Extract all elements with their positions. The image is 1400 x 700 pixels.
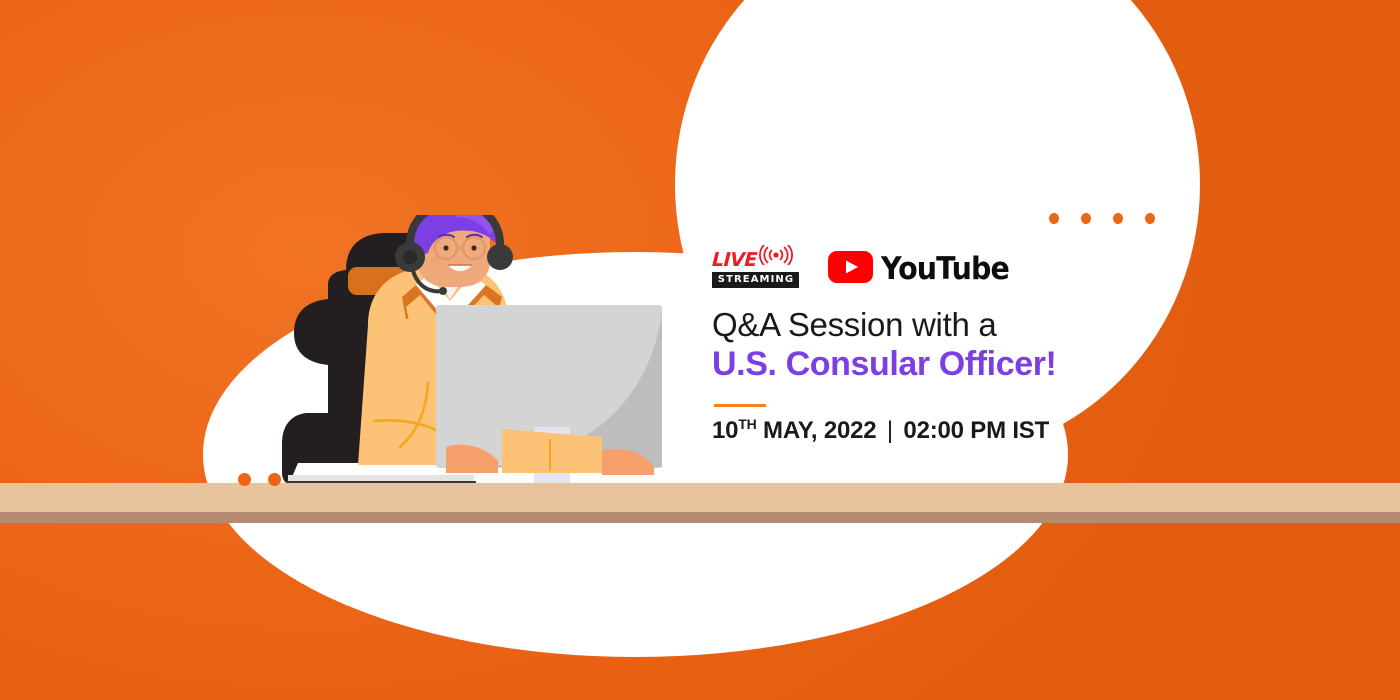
decor-dot-2 xyxy=(1081,213,1091,224)
schedule-day: 10 xyxy=(712,417,738,444)
decor-dots-row xyxy=(1049,213,1155,224)
schedule-line: 10TH MAY, 2022 | 02:00 PM IST xyxy=(712,416,1132,446)
decor-dot-1 xyxy=(1049,213,1059,224)
webinar-promo-banner: LIVE STREAMING xyxy=(0,0,1400,700)
youtube-play-icon xyxy=(828,251,873,288)
live-streaming-badge: LIVE STREAMING xyxy=(712,250,800,288)
headline-block: Q&A Session with a U.S. Consular Officer… xyxy=(712,305,1132,385)
schedule-separator: | xyxy=(883,417,897,444)
decor-dot-desk-1 xyxy=(238,473,251,486)
decor-dot-desk-2 xyxy=(268,473,281,486)
accent-divider xyxy=(714,404,766,407)
headline-line-1: Q&A Session with a xyxy=(712,305,1132,344)
schedule-month-year: MAY, 2022 xyxy=(763,417,876,444)
headline-line-2: U.S. Consular Officer! xyxy=(712,344,1132,385)
desk-surface xyxy=(0,483,1400,512)
live-label: LIVE xyxy=(712,251,758,270)
promo-content: LIVE STREAMING xyxy=(712,248,1132,446)
logo-row: LIVE STREAMING xyxy=(712,248,1132,290)
desk-edge xyxy=(0,512,1400,523)
streaming-label: STREAMING xyxy=(712,272,799,288)
decor-dot-4 xyxy=(1145,213,1155,224)
schedule-time: 02:00 PM IST xyxy=(903,417,1049,444)
decor-dot-3 xyxy=(1113,213,1123,224)
youtube-logo[interactable]: YouTube xyxy=(828,251,1020,288)
broadcast-waves-icon xyxy=(759,245,793,270)
schedule-ordinal: TH xyxy=(738,416,756,432)
live-badge-top-row: LIVE xyxy=(712,250,800,270)
person-at-desk-illustration xyxy=(250,215,710,500)
youtube-wordmark: YouTube xyxy=(881,254,1009,285)
